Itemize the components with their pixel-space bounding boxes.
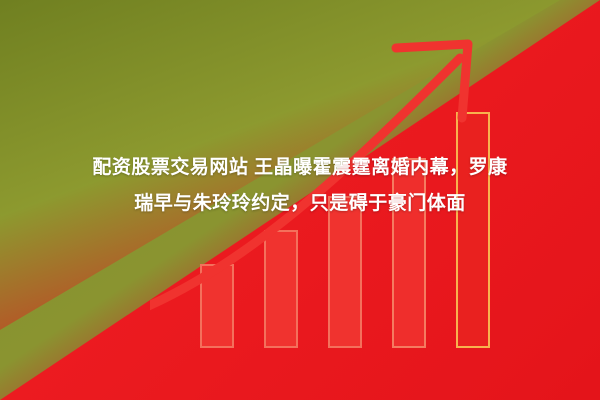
chart-bar [456, 112, 490, 348]
chart-bar [200, 264, 234, 348]
headline-line-2: 瑞早与朱玲玲约定，只是碍于豪门体面 [14, 186, 586, 222]
headline-line-1: 配资股票交易网站 王晶曝霍震霆离婚内幕，罗康 [14, 150, 586, 186]
promo-banner: 配资股票交易网站 王晶曝霍震霆离婚内幕，罗康 瑞早与朱玲玲约定，只是碍于豪门体面 [0, 0, 600, 400]
banner-headline: 配资股票交易网站 王晶曝霍震霆离婚内幕，罗康 瑞早与朱玲玲约定，只是碍于豪门体面 [0, 150, 600, 222]
chart-bar [264, 230, 298, 348]
